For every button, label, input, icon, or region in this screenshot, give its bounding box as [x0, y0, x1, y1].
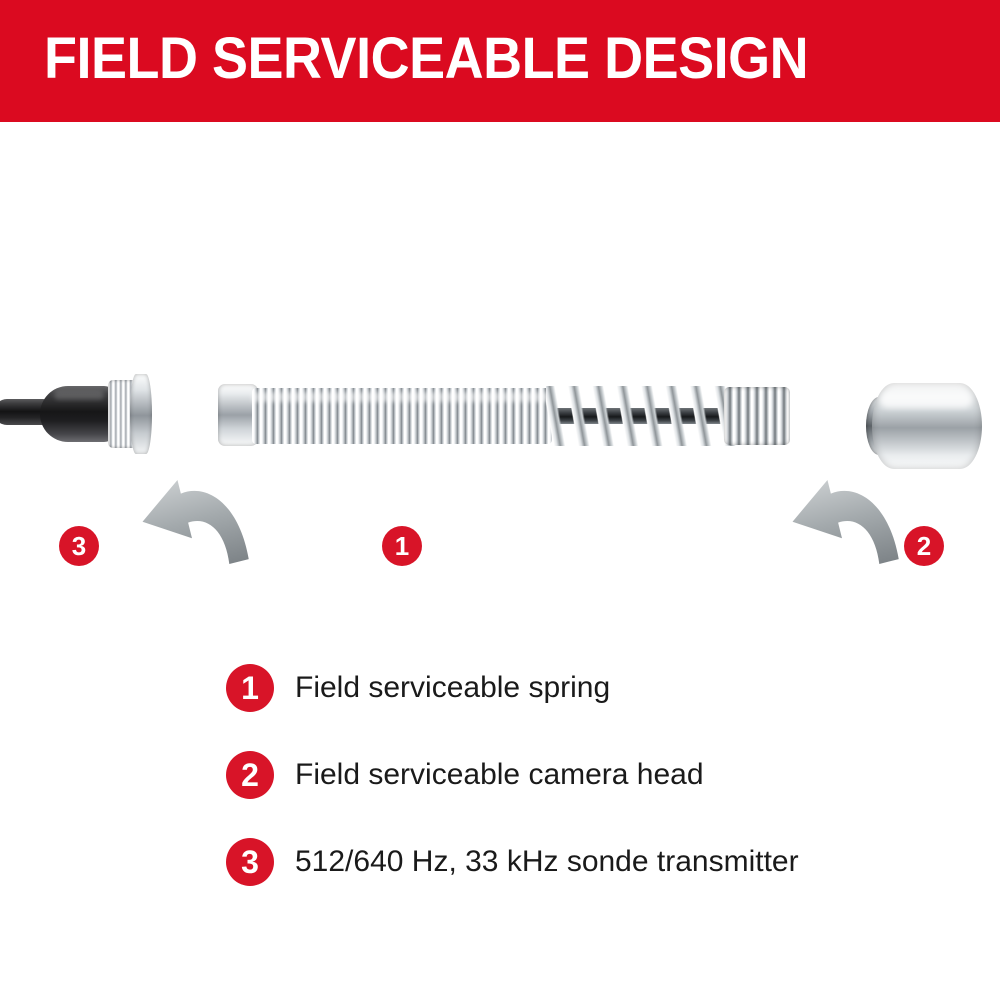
sonde-transmitter-body [40, 386, 116, 442]
legend-label-2: Field serviceable camera head [295, 756, 704, 794]
product-illustration: 1 2 3 [0, 122, 1000, 622]
sonde-connector-cap [130, 374, 152, 454]
legend-label-1: Field serviceable spring [295, 669, 610, 707]
spring-inner-cable [550, 408, 736, 424]
header-banner: FIELD SERVICEABLE DESIGN [0, 0, 1000, 122]
spring-open-coils [546, 386, 736, 446]
legend-item-1: 1 Field serviceable spring [226, 664, 926, 751]
figure-callout-1: 1 [382, 526, 422, 566]
assembly-arrow-left-icon [140, 474, 260, 584]
spring-assembly [218, 378, 790, 450]
camera-head-body [872, 383, 982, 469]
legend-label-3: 512/640 Hz, 33 kHz sonde transmitter [295, 843, 799, 881]
legend-item-2: 2 Field serviceable camera head [226, 751, 926, 838]
figure-callout-2: 2 [904, 526, 944, 566]
spring-tight-coils [252, 388, 552, 444]
figure-callout-3: 3 [59, 526, 99, 566]
legend-badge-1: 1 [226, 664, 274, 712]
legend-item-3: 3 512/640 Hz, 33 kHz sonde transmitter [226, 838, 926, 925]
legend-badge-2: 2 [226, 751, 274, 799]
page-title: FIELD SERVICEABLE DESIGN [44, 29, 808, 89]
spring-right-ferrule [724, 387, 790, 445]
legend-badge-3: 3 [226, 838, 274, 886]
legend-list: 1 Field serviceable spring 2 Field servi… [226, 664, 926, 925]
assembly-arrow-right-icon [790, 474, 910, 584]
